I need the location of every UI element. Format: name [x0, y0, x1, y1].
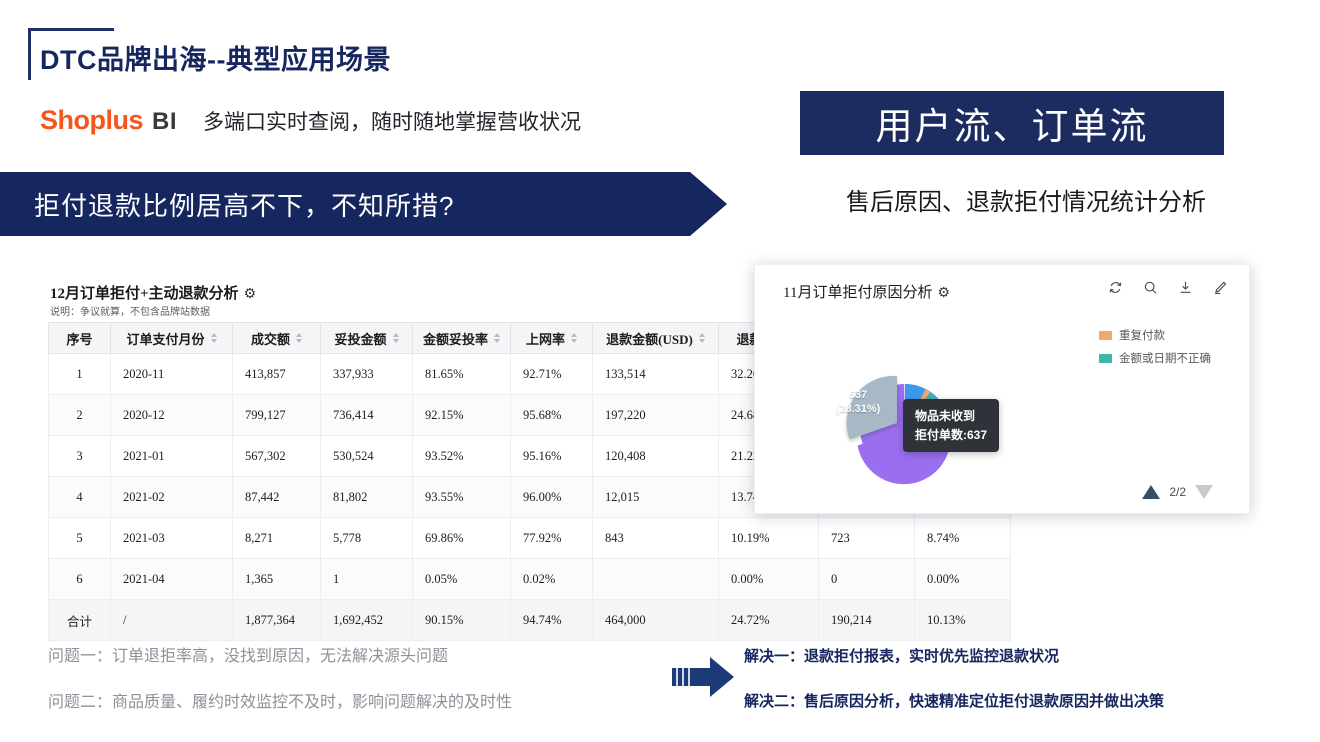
table-cell: 2021-03 — [111, 518, 233, 559]
gear-icon[interactable]: ⚙ — [937, 285, 950, 302]
triangle-up-icon[interactable] — [1142, 485, 1160, 499]
table-cell: 843 — [593, 518, 719, 559]
table-cell: 197,220 — [593, 395, 719, 436]
brand-logo-shoplus: Shoplus — [40, 105, 143, 136]
table-cell: 0.00% — [915, 559, 1011, 600]
table-cell: 2021-02 — [111, 477, 233, 518]
table-header-cell[interactable]: 成交额 — [233, 323, 321, 354]
table-total-cell: 90.15% — [413, 600, 511, 641]
slide-root: DTC品牌出海--典型应用场景 Shoplus BI 多端口实时查阅，随时随地掌… — [0, 0, 1320, 742]
problem-item: 问题一：订单退拒率高，没找到原因，无法解决源头问题 — [48, 642, 512, 666]
legend-item-label: 重复付款 — [1119, 327, 1165, 343]
table-total-cell: 190,214 — [819, 600, 915, 641]
table-total-cell: 464,000 — [593, 600, 719, 641]
brand-logo-bi: BI — [152, 108, 177, 136]
table-cell: 1 — [321, 559, 413, 600]
sort-toggle-icon[interactable] — [211, 333, 217, 343]
table-cell: 736,414 — [321, 395, 413, 436]
table-cell: 93.55% — [413, 477, 511, 518]
page-title: DTC品牌出海--典型应用场景 — [40, 38, 391, 77]
sort-toggle-icon[interactable] — [699, 333, 705, 343]
table-cell: 0.02% — [511, 559, 593, 600]
table-total-cell: 1,877,364 — [233, 600, 321, 641]
arrow-banner-label: 拒付退款比例居高不下，不知所措? — [34, 172, 454, 236]
table-cell: 5 — [49, 518, 111, 559]
table-total-cell: 合计 — [49, 600, 111, 641]
pie-pager: 2/2 — [1142, 485, 1213, 499]
table-header-cell[interactable]: 上网率 — [511, 323, 593, 354]
table-header-label: 妥投金额 — [334, 329, 386, 348]
table-cell — [593, 559, 719, 600]
right-arrow-icon — [672, 655, 734, 699]
report-note: 说明：争议就算，不包含品牌站数据 — [50, 303, 210, 318]
table-header-label: 金额妥投率 — [423, 329, 488, 348]
pie-panel-toolbar — [1107, 279, 1229, 296]
solution-item: 解决二：售后原因分析，快速精准定位拒付退款原因并做出决策 — [744, 690, 1164, 711]
table-total-cell: 94.74% — [511, 600, 593, 641]
table-header-cell[interactable]: 订单支付月份 — [111, 323, 233, 354]
table-cell: 95.68% — [511, 395, 593, 436]
table-row[interactable]: 52021-038,2715,77869.86%77.92%84310.19%7… — [49, 518, 1011, 559]
table-cell: 4 — [49, 477, 111, 518]
table-cell: 81.65% — [413, 354, 511, 395]
table-cell: 0.00% — [719, 559, 819, 600]
legend-item[interactable]: 重复付款 — [1099, 327, 1211, 343]
table-cell: 95.16% — [511, 436, 593, 477]
pie-legend: 重复付款 金额或日期不正确 — [1099, 327, 1211, 373]
table-cell: 69.86% — [413, 518, 511, 559]
pie-tooltip-detail: 拒付单数:637 — [915, 426, 987, 445]
table-cell: 87,442 — [233, 477, 321, 518]
table-header-label: 退款金额(USD) — [606, 329, 693, 348]
solution-item: 解决一：退款拒付报表，实时优先监控退款状况 — [744, 645, 1164, 666]
table-cell: 2020-11 — [111, 354, 233, 395]
table-cell: 77.92% — [511, 518, 593, 559]
brand-tagline: 多端口实时查阅，随时随地掌握营收状况 — [203, 106, 581, 136]
sort-toggle-icon[interactable] — [494, 333, 500, 343]
table-cell: 133,514 — [593, 354, 719, 395]
table-header-cell[interactable]: 退款金额(USD) — [593, 323, 719, 354]
table-header-label: 订单支付月份 — [126, 329, 204, 348]
pager-label: 2/2 — [1169, 485, 1186, 499]
table-total-cell: 24.72% — [719, 600, 819, 641]
flow-chip-label: 用户流、订单流 — [876, 96, 1149, 150]
table-cell: 92.15% — [413, 395, 511, 436]
table-header-cell: 序号 — [49, 323, 111, 354]
table-total-row: 合计/1,877,3641,692,45290.15%94.74%464,000… — [49, 600, 1011, 641]
table-cell: 92.71% — [511, 354, 593, 395]
right-subtitle: 售后原因、退款拒付情况统计分析 — [766, 182, 1286, 217]
table-cell: 799,127 — [233, 395, 321, 436]
table-cell: 12,015 — [593, 477, 719, 518]
refresh-icon[interactable] — [1107, 279, 1124, 296]
table-total-cell: 10.13% — [915, 600, 1011, 641]
legend-swatch-icon — [1099, 354, 1112, 363]
brand-row: Shoplus BI 多端口实时查阅，随时随地掌握营收状况 — [40, 105, 581, 136]
sort-toggle-icon[interactable] — [571, 333, 577, 343]
legend-swatch-icon — [1099, 331, 1112, 340]
table-total-cell: 1,692,452 — [321, 600, 413, 641]
table-cell: 0.05% — [413, 559, 511, 600]
flow-chip: 用户流、订单流 — [800, 91, 1224, 155]
table-cell: 2021-01 — [111, 436, 233, 477]
search-icon[interactable] — [1142, 279, 1159, 296]
problems-list: 问题一：订单退拒率高，没找到原因，无法解决源头问题 问题二：商品质量、履约时效监… — [48, 642, 512, 734]
legend-item[interactable]: 金额或日期不正确 — [1099, 350, 1211, 366]
pie-tooltip-title: 物品未收到 — [915, 407, 987, 426]
table-row[interactable]: 62021-041,36510.05%0.02%0.00%00.00% — [49, 559, 1011, 600]
table-cell: 0 — [819, 559, 915, 600]
table-cell: 2 — [49, 395, 111, 436]
table-cell: 8,271 — [233, 518, 321, 559]
problem-item: 问题二：商品质量、履约时效监控不及时，影响问题解决的及时性 — [48, 688, 512, 712]
table-cell: 93.52% — [413, 436, 511, 477]
arrow-banner: 拒付退款比例居高不下，不知所措? — [0, 172, 727, 236]
table-cell: 530,524 — [321, 436, 413, 477]
pie-chart-panel[interactable]: 11月订单拒付原因分析⚙ — [754, 264, 1250, 514]
table-header-label: 成交额 — [251, 329, 290, 348]
report-title: 12月订单拒付+主动退款分析⚙ — [50, 282, 256, 303]
table-cell: 8.74% — [915, 518, 1011, 559]
table-total-cell: / — [111, 600, 233, 641]
table-cell: 1 — [49, 354, 111, 395]
gear-icon[interactable]: ⚙ — [244, 286, 257, 303]
table-header-label: 上网率 — [526, 329, 565, 348]
pie-tooltip: 物品未收到 拒付单数:637 — [903, 399, 999, 452]
table-cell: 10.19% — [719, 518, 819, 559]
download-icon[interactable] — [1177, 279, 1194, 296]
table-cell: 1,365 — [233, 559, 321, 600]
table-header-cell[interactable]: 金额妥投率 — [413, 323, 511, 354]
table-header-cell[interactable]: 妥投金额 — [321, 323, 413, 354]
table-cell: 2021-04 — [111, 559, 233, 600]
table-cell: 120,408 — [593, 436, 719, 477]
sort-toggle-icon[interactable] — [393, 333, 399, 343]
table-cell: 5,778 — [321, 518, 413, 559]
table-cell: 413,857 — [233, 354, 321, 395]
table-cell: 96.00% — [511, 477, 593, 518]
table-cell: 81,802 — [321, 477, 413, 518]
solutions-list: 解决一：退款拒付报表，实时优先监控退款状况 解决二：售后原因分析，快速精准定位拒… — [744, 645, 1164, 735]
legend-item-label: 金额或日期不正确 — [1119, 350, 1211, 366]
table-cell: 567,302 — [233, 436, 321, 477]
table-cell: 6 — [49, 559, 111, 600]
table-cell: 723 — [819, 518, 915, 559]
table-cell: 337,933 — [321, 354, 413, 395]
pie-panel-title: 11月订单拒付原因分析⚙ — [783, 281, 950, 302]
table-header-label: 序号 — [66, 329, 92, 348]
sort-toggle-icon[interactable] — [296, 333, 302, 343]
triangle-down-icon[interactable] — [1195, 485, 1213, 499]
report-title-text: 12月订单拒付+主动退款分析 — [50, 286, 239, 302]
edit-icon[interactable] — [1212, 279, 1229, 296]
table-cell: 3 — [49, 436, 111, 477]
pie-panel-title-text: 11月订单拒付原因分析 — [783, 285, 932, 301]
table-cell: 2020-12 — [111, 395, 233, 436]
